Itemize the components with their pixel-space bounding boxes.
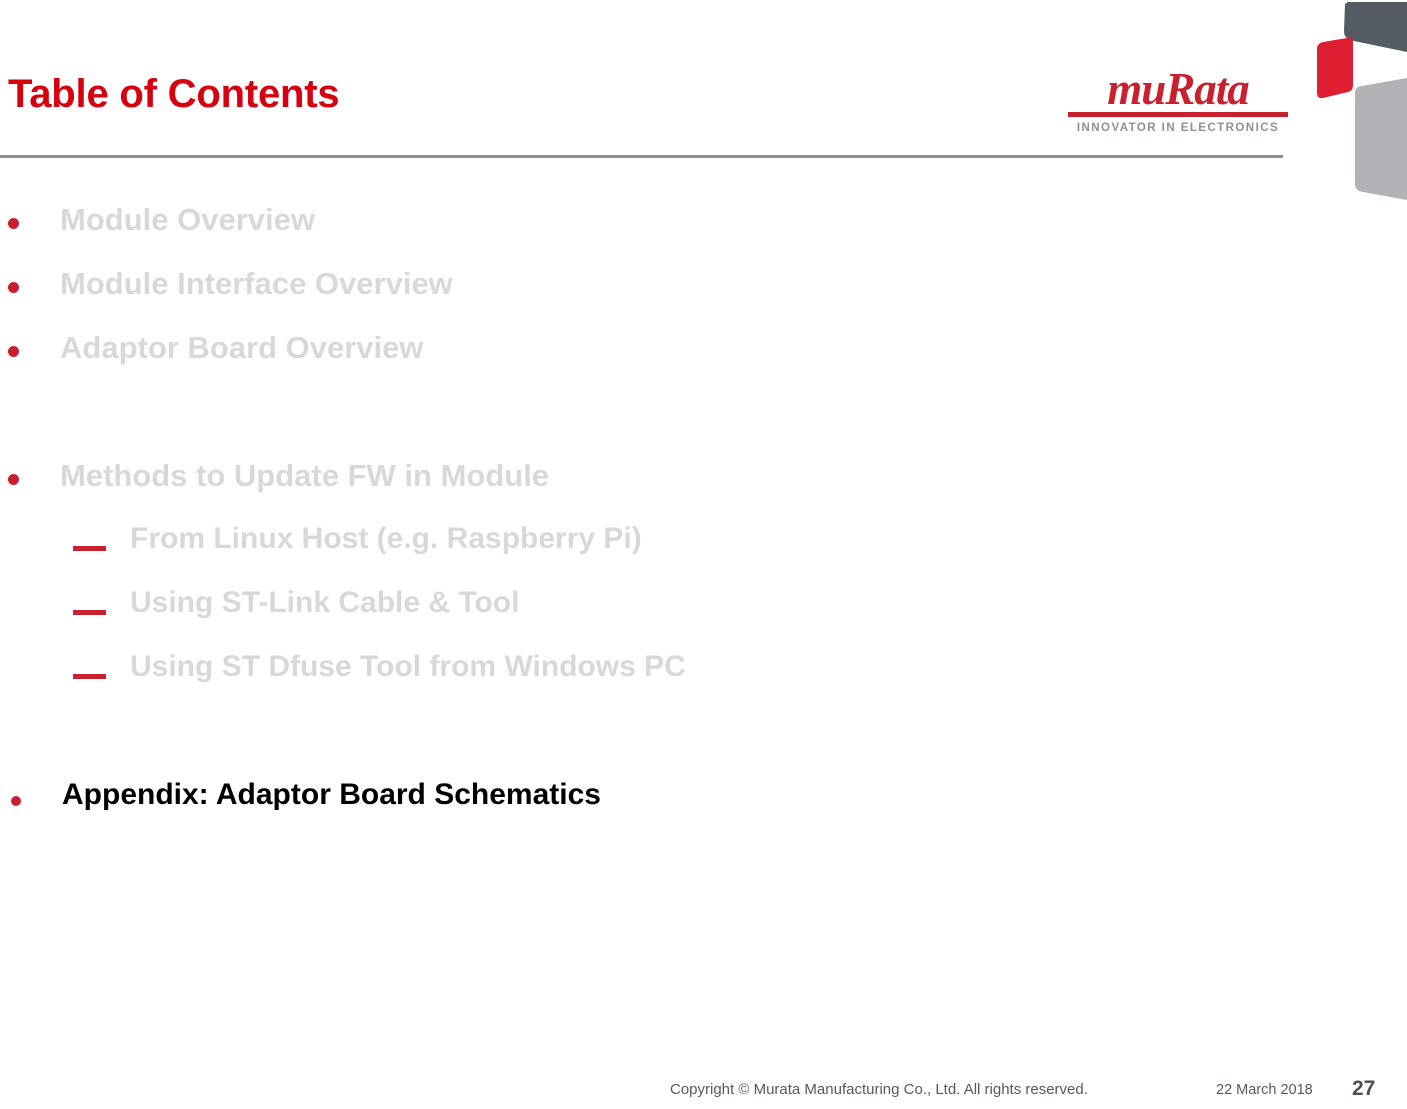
toc-item[interactable]: Methods to Update FW in Module xyxy=(0,452,1300,516)
toc-item-label: Module Overview xyxy=(60,202,315,238)
dash-bullet-icon xyxy=(73,546,106,551)
toc-item-label: From Linux Host (e.g. Raspberry Pi) xyxy=(130,522,642,556)
toc-item-label: Using ST Dfuse Tool from Windows PC xyxy=(130,650,686,684)
toc-item-label: Methods to Update FW in Module xyxy=(60,458,549,494)
toc-group-spacer xyxy=(0,388,1300,452)
toc-item[interactable]: Using ST-Link Cable & Tool xyxy=(0,580,1300,644)
dot-bullet-icon xyxy=(11,796,21,806)
dot-bullet-icon xyxy=(8,474,19,485)
footer-date: 22 March 2018 xyxy=(1216,1082,1313,1098)
murata-wordmark: muRata xyxy=(1068,66,1288,117)
toc-item-label: Appendix: Adaptor Board Schematics xyxy=(62,778,601,812)
dash-bullet-icon xyxy=(73,674,106,679)
footer-copyright: Copyright © Murata Manufacturing Co., Lt… xyxy=(670,1081,1088,1098)
title-divider xyxy=(0,155,1283,158)
dash-bullet-icon xyxy=(73,610,106,615)
toc-item-label: Adaptor Board Overview xyxy=(60,330,423,366)
toc-item[interactable]: From Linux Host (e.g. Raspberry Pi) xyxy=(0,516,1300,580)
toc-item-label: Using ST-Link Cable & Tool xyxy=(130,586,519,620)
toc-item-label: Module Interface Overview xyxy=(60,266,453,302)
table-of-contents-list: Module OverviewModule Interface Overview… xyxy=(0,196,1300,836)
toc-item[interactable]: Module Interface Overview xyxy=(0,260,1300,324)
slide-header: Table of Contents muRata INNOVATOR IN EL… xyxy=(0,0,1407,162)
toc-item[interactable]: Appendix: Adaptor Board Schematics xyxy=(0,772,1300,836)
dot-bullet-icon xyxy=(8,218,19,229)
page-title: Table of Contents xyxy=(8,72,339,117)
dot-bullet-icon xyxy=(8,346,19,357)
toc-item[interactable]: Using ST Dfuse Tool from Windows PC xyxy=(0,644,1300,708)
slide-footer: Copyright © Murata Manufacturing Co., Lt… xyxy=(0,1069,1407,1109)
footer-page-number: 27 xyxy=(1352,1077,1375,1101)
toc-group-spacer xyxy=(0,708,1300,772)
toc-item[interactable]: Adaptor Board Overview xyxy=(0,324,1300,388)
murata-tagline: INNOVATOR IN ELECTRONICS xyxy=(1068,122,1288,134)
toc-item[interactable]: Module Overview xyxy=(0,196,1300,260)
dot-bullet-icon xyxy=(8,282,19,293)
murata-logo: muRata INNOVATOR IN ELECTRONICS xyxy=(1068,66,1288,134)
